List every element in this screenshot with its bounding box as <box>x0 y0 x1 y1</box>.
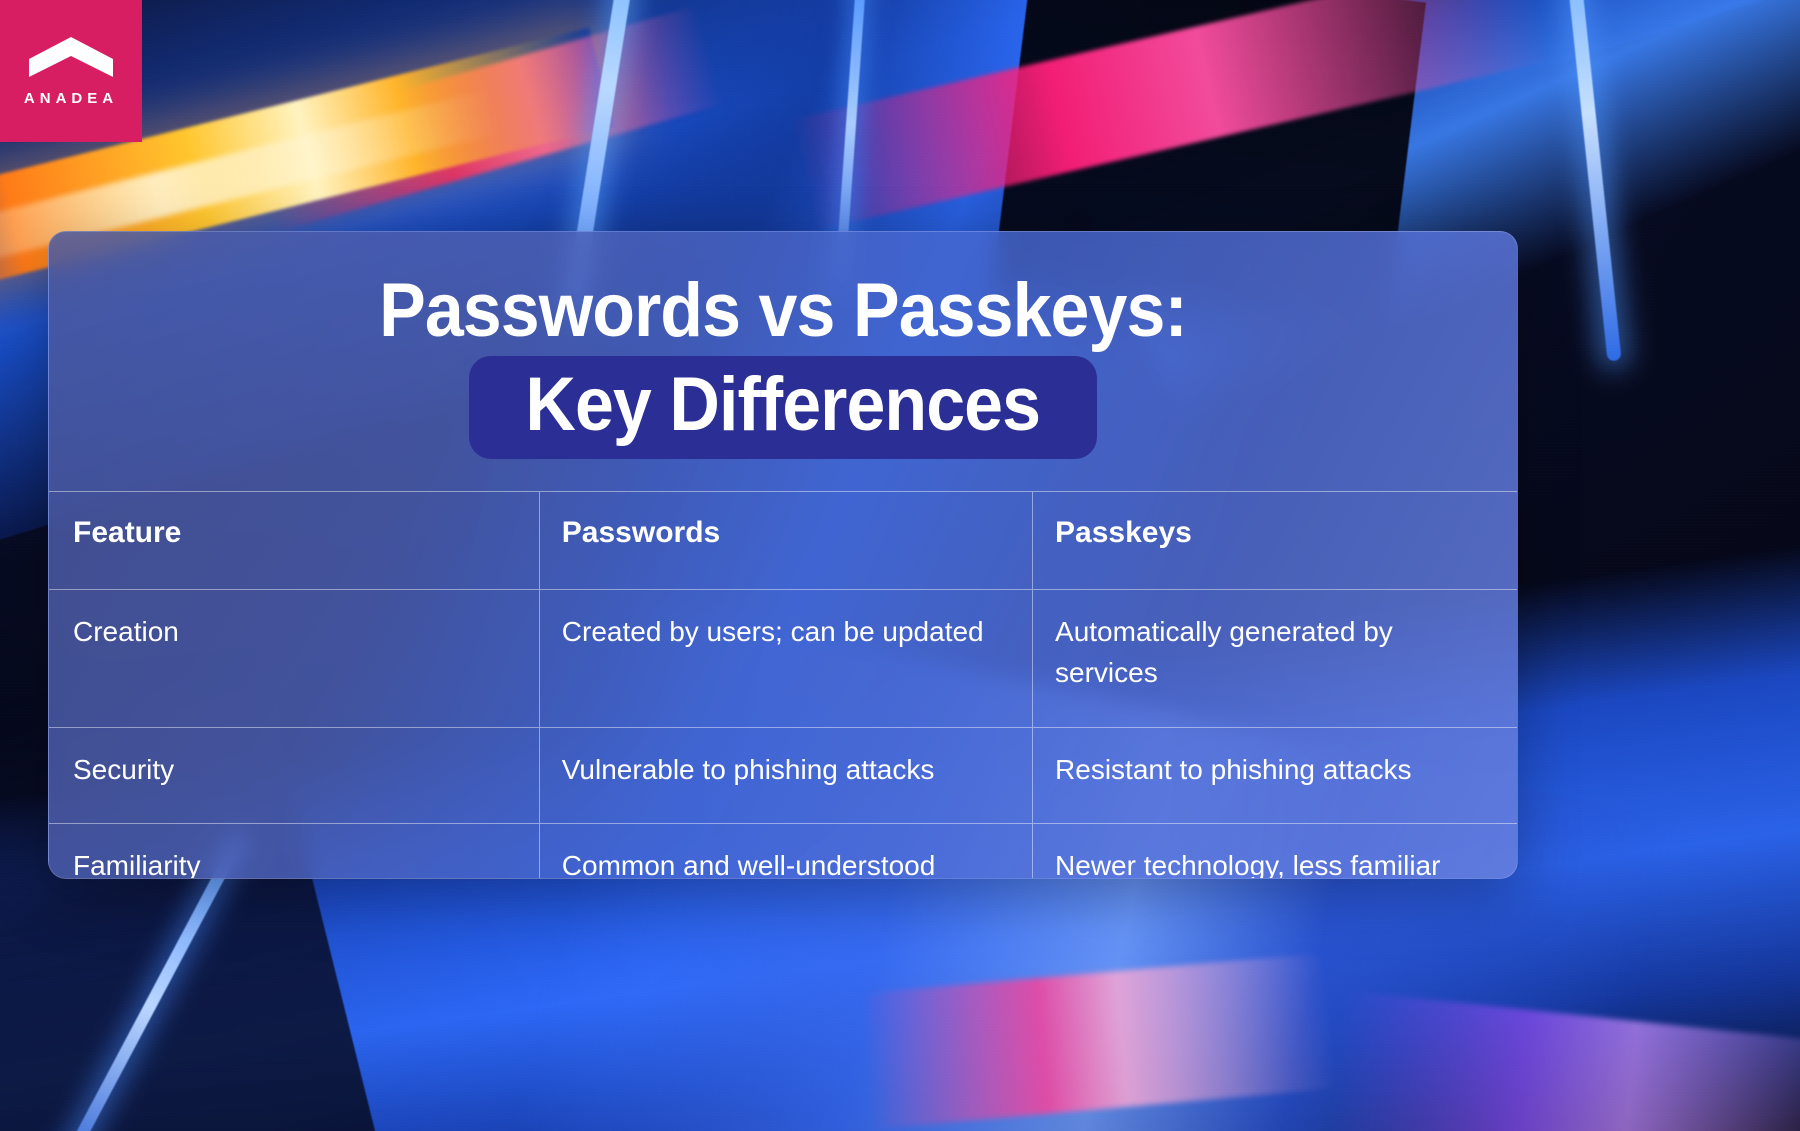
cell-feature: Familiarity <box>49 824 539 880</box>
cell-feature: Security <box>49 728 539 824</box>
chevron-up-mark-icon <box>29 37 113 77</box>
cell-passwords: Vulnerable to phishing attacks <box>539 728 1032 824</box>
title-highlight-badge: Key Differences <box>469 356 1097 459</box>
page-subtitle: Key Differences <box>526 362 1041 447</box>
brand-name: ANADEA <box>24 91 118 106</box>
page-title: Passwords vs Passkeys: <box>379 272 1187 350</box>
column-header-feature: Feature <box>49 492 539 590</box>
cell-passwords: Created by users; can be updated <box>539 590 1032 728</box>
table-row: Security Vulnerable to phishing attacks … <box>49 728 1517 824</box>
comparison-table: Feature Passwords Passkeys Creation Crea… <box>49 491 1517 879</box>
table-header-row: Feature Passwords Passkeys <box>49 492 1517 590</box>
column-header-passwords: Passwords <box>539 492 1032 590</box>
table-head: Feature Passwords Passkeys <box>49 492 1517 590</box>
comparison-card: Passwords vs Passkeys: Key Differences F… <box>48 231 1518 879</box>
brand-logo: ANADEA <box>0 0 142 142</box>
cell-passkeys: Automatically generated by services <box>1033 590 1517 728</box>
table-row: Familiarity Common and well-understood N… <box>49 824 1517 880</box>
cell-feature: Creation <box>49 590 539 728</box>
table-row: Creation Created by users; can be update… <box>49 590 1517 728</box>
table-body: Creation Created by users; can be update… <box>49 590 1517 880</box>
card-header: Passwords vs Passkeys: Key Differences <box>49 232 1517 491</box>
column-header-passkeys: Passkeys <box>1033 492 1517 590</box>
cell-passkeys: Resistant to phishing attacks <box>1033 728 1517 824</box>
slide-canvas: ANADEA Passwords vs Passkeys: Key Differ… <box>0 0 1800 1131</box>
cell-passwords: Common and well-understood <box>539 824 1032 880</box>
cell-passkeys: Newer technology, less familiar <box>1033 824 1517 880</box>
